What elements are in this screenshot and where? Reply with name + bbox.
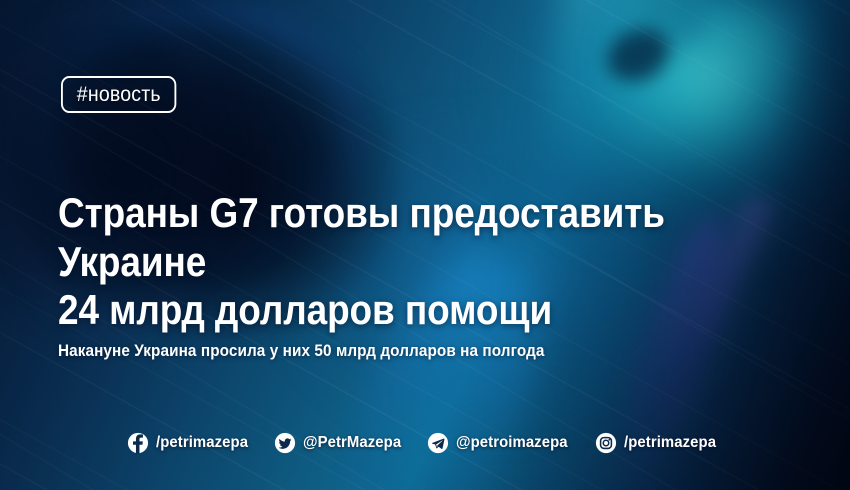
telegram-icon xyxy=(427,432,449,454)
twitter-handle: @PetrMazepa xyxy=(303,434,401,452)
news-card: #новость Страны G7 готовы предоставить У… xyxy=(0,0,850,490)
social-link-instagram[interactable]: /petrimazepa xyxy=(595,432,723,454)
twitter-icon xyxy=(274,432,296,454)
instagram-icon xyxy=(595,432,617,454)
facebook-icon xyxy=(127,432,149,454)
facebook-handle: /petrimazepa xyxy=(156,434,248,452)
social-link-telegram[interactable]: @petroimazepa xyxy=(427,432,576,454)
instagram-handle: /petrimazepa xyxy=(624,434,716,452)
telegram-handle: @petroimazepa xyxy=(456,434,568,452)
social-links-bar: /petrimazepa @PetrMazepa xyxy=(0,432,850,454)
page-title: Страны G7 готовы предоставить Украине 24… xyxy=(58,189,674,335)
category-tag-badge[interactable]: #новость xyxy=(61,76,177,113)
category-tag-label: #новость xyxy=(77,83,161,107)
social-link-facebook[interactable]: /petrimazepa xyxy=(127,432,255,454)
social-link-twitter[interactable]: @PetrMazepa xyxy=(274,432,409,454)
card-content: #новость Страны G7 готовы предоставить У… xyxy=(0,0,850,490)
subtitle: Накануне Украина просила у них 50 млрд д… xyxy=(58,341,634,361)
